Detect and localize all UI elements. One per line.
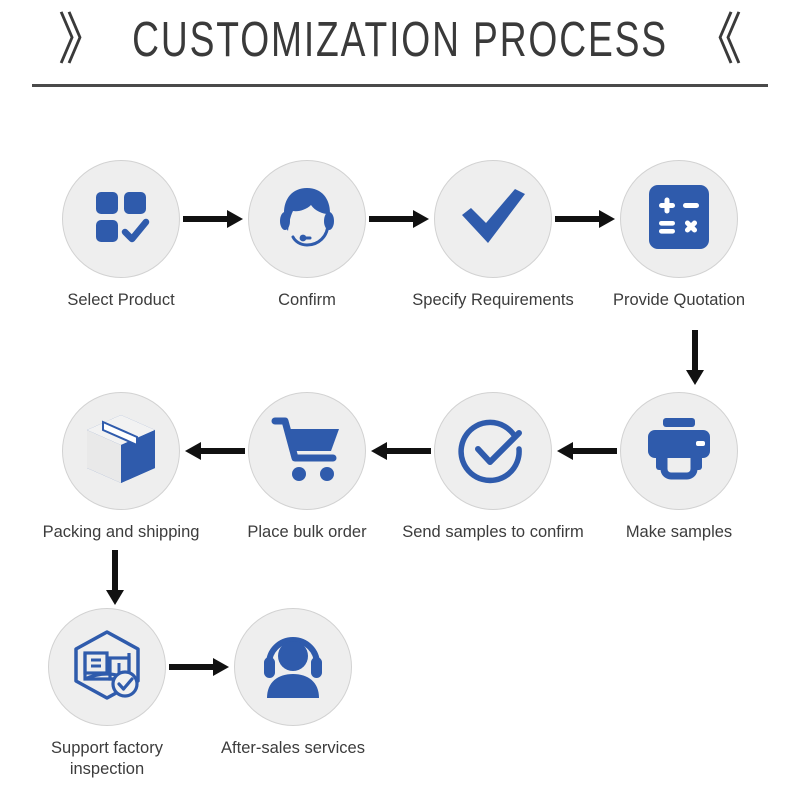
process-row-1: Select Product Confirm <box>0 160 800 311</box>
step-place-bulk-order[interactable]: Place bulk order <box>245 392 369 543</box>
arrow-right <box>555 160 617 278</box>
step-label: Select Product <box>67 290 174 311</box>
step-specify-requirements[interactable]: Specify Requirements <box>431 160 555 311</box>
step-label: Place bulk order <box>247 522 366 543</box>
step-label: Support factory inspection <box>32 738 182 780</box>
step-send-samples-to-confirm[interactable]: Send samples to confirm <box>431 392 555 543</box>
step-icon-circle <box>62 392 180 510</box>
arrow-left <box>555 392 617 510</box>
step-icon-circle <box>62 160 180 278</box>
step-icon-circle <box>234 608 352 726</box>
step-icon-circle <box>48 608 166 726</box>
page-header: 》 CUSTOMIZATION PROCESS 《 <box>0 0 800 87</box>
step-label: Send samples to confirm <box>402 522 584 543</box>
step-label: After-sales services <box>221 738 365 759</box>
vertical-arrow-left <box>104 550 126 606</box>
step-select-product[interactable]: Select Product <box>59 160 183 311</box>
package-box-icon <box>83 412 159 491</box>
step-after-sales-services[interactable]: After-sales services <box>231 608 355 759</box>
step-label: Make samples <box>626 522 732 543</box>
step-label: Specify Requirements <box>412 290 573 311</box>
step-provide-quotation[interactable]: Provide Quotation <box>617 160 741 311</box>
vertical-arrow-right <box>684 330 706 386</box>
arrow-right <box>183 160 245 278</box>
title-row: 》 CUSTOMIZATION PROCESS 《 <box>0 14 800 66</box>
bold-checkmark-icon <box>457 184 529 255</box>
step-label: Confirm <box>278 290 336 311</box>
page-title: CUSTOMIZATION PROCESS <box>132 16 668 65</box>
arrow-left <box>183 392 245 510</box>
step-icon-circle <box>434 160 552 278</box>
step-confirm[interactable]: Confirm <box>245 160 369 311</box>
headset-operator-icon <box>271 181 343 258</box>
step-icon-circle <box>620 392 738 510</box>
step-icon-circle <box>434 392 552 510</box>
shopping-cart-icon <box>271 415 343 488</box>
title-divider <box>32 84 768 87</box>
arrow-left <box>369 392 431 510</box>
step-packing-and-shipping[interactable]: Packing and shipping <box>59 392 183 543</box>
double-angle-left-icon: 《 <box>692 12 742 68</box>
process-row-2: Packing and shipping Place bulk order <box>0 392 800 543</box>
arrow-right <box>369 160 431 278</box>
step-label: Provide Quotation <box>613 290 745 311</box>
factory-shield-check-icon <box>70 629 144 706</box>
step-support-factory-inspection[interactable]: Support factory inspection <box>45 608 169 780</box>
step-icon-circle <box>248 392 366 510</box>
step-label: Packing and shipping <box>43 522 200 543</box>
grid-squares-check-icon <box>90 186 152 253</box>
arrow-right <box>169 608 231 726</box>
process-row-3: Support factory inspection After-sales s… <box>0 608 800 780</box>
double-angle-right-icon: 》 <box>58 12 108 68</box>
step-make-samples[interactable]: Make samples <box>617 392 741 543</box>
step-icon-circle <box>248 160 366 278</box>
calculator-icon <box>647 183 711 256</box>
circle-check-icon <box>457 413 529 490</box>
printer-icon <box>644 417 714 486</box>
headphones-person-icon <box>257 630 329 705</box>
step-icon-circle <box>620 160 738 278</box>
